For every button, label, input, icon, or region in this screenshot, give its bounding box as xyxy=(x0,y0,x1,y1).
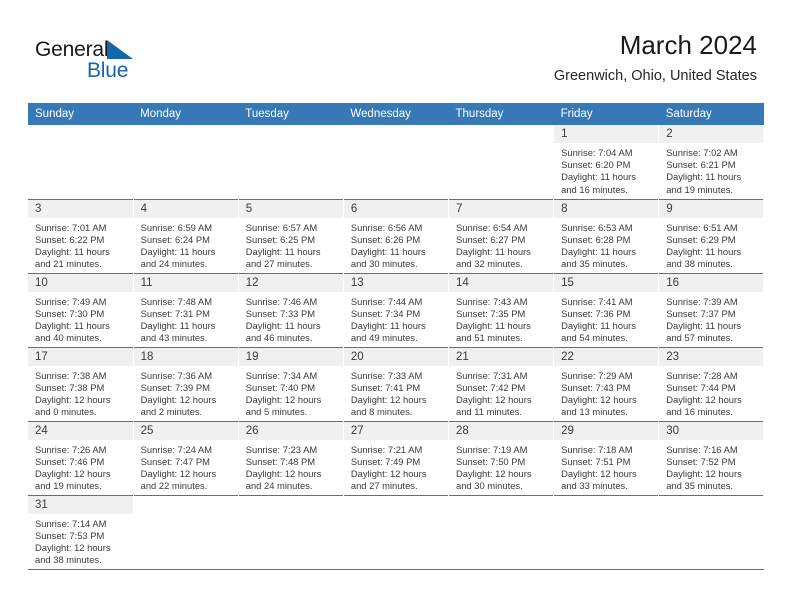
daylight-text-cont: and 16 minutes. xyxy=(666,406,759,418)
sunrise-text: Sunrise: 7:02 AM xyxy=(666,147,759,159)
daylight-text: Daylight: 12 hours xyxy=(141,394,234,406)
day-number xyxy=(28,125,133,143)
day-detail-lines xyxy=(659,514,763,518)
sunset-text: Sunset: 7:38 PM xyxy=(35,382,129,394)
daylight-text: Daylight: 11 hours xyxy=(456,246,549,258)
calendar-empty-cell xyxy=(659,495,764,569)
sunrise-text: Sunrise: 7:29 AM xyxy=(561,370,654,382)
daylight-text-cont: and 11 minutes. xyxy=(456,406,549,418)
daylight-text-cont: and 19 minutes. xyxy=(35,480,129,492)
sunrise-text: Sunrise: 7:34 AM xyxy=(246,370,339,382)
sunset-text: Sunset: 6:26 PM xyxy=(351,234,444,246)
calendar-empty-cell xyxy=(133,495,238,569)
sunset-text: Sunset: 7:30 PM xyxy=(35,308,129,320)
day-number xyxy=(344,125,448,143)
title-block: March 2024 Greenwich, Ohio, United State… xyxy=(554,30,757,86)
day-number xyxy=(344,496,448,514)
weekday-header-wednesday: Wednesday xyxy=(343,103,448,125)
day-detail-lines: Sunrise: 7:29 AMSunset: 7:43 PMDaylight:… xyxy=(554,366,658,419)
weekday-header-friday: Friday xyxy=(554,103,659,125)
day-detail-lines: Sunrise: 6:56 AMSunset: 6:26 PMDaylight:… xyxy=(344,218,448,271)
calendar-day-cell[interactable]: 31Sunrise: 7:14 AMSunset: 7:53 PMDayligh… xyxy=(28,495,133,569)
calendar-empty-cell xyxy=(343,125,448,199)
daylight-text-cont: and 57 minutes. xyxy=(666,332,759,344)
calendar-day-cell[interactable]: 3Sunrise: 7:01 AMSunset: 6:22 PMDaylight… xyxy=(28,199,133,273)
calendar-day-cell[interactable]: 24Sunrise: 7:26 AMSunset: 7:46 PMDayligh… xyxy=(28,421,133,495)
calendar-day-cell[interactable]: 25Sunrise: 7:24 AMSunset: 7:47 PMDayligh… xyxy=(133,421,238,495)
calendar-day-cell[interactable]: 23Sunrise: 7:28 AMSunset: 7:44 PMDayligh… xyxy=(659,347,764,421)
day-number xyxy=(239,496,343,514)
day-detail-lines: Sunrise: 7:41 AMSunset: 7:36 PMDaylight:… xyxy=(554,292,658,345)
weekday-header-thursday: Thursday xyxy=(449,103,554,125)
calendar-day-cell[interactable]: 28Sunrise: 7:19 AMSunset: 7:50 PMDayligh… xyxy=(449,421,554,495)
daylight-text: Daylight: 11 hours xyxy=(35,320,129,332)
day-number: 27 xyxy=(344,422,448,440)
daylight-text: Daylight: 11 hours xyxy=(351,320,444,332)
sunset-text: Sunset: 7:40 PM xyxy=(246,382,339,394)
day-number xyxy=(449,496,553,514)
calendar-week-row: 1Sunrise: 7:04 AMSunset: 6:20 PMDaylight… xyxy=(28,125,764,199)
day-detail-lines: Sunrise: 7:24 AMSunset: 7:47 PMDaylight:… xyxy=(134,440,238,493)
daylight-text: Daylight: 11 hours xyxy=(351,246,444,258)
day-number: 28 xyxy=(449,422,553,440)
daylight-text: Daylight: 11 hours xyxy=(456,320,549,332)
sunrise-text: Sunrise: 7:01 AM xyxy=(35,222,129,234)
daylight-text-cont: and 38 minutes. xyxy=(35,554,129,566)
sunrise-text: Sunrise: 7:24 AM xyxy=(141,444,234,456)
daylight-text-cont: and 40 minutes. xyxy=(35,332,129,344)
day-number: 4 xyxy=(134,200,238,218)
calendar-day-cell[interactable]: 15Sunrise: 7:41 AMSunset: 7:36 PMDayligh… xyxy=(554,273,659,347)
daylight-text: Daylight: 11 hours xyxy=(246,320,339,332)
page-subtitle: Greenwich, Ohio, United States xyxy=(554,66,757,86)
calendar-day-cell[interactable]: 12Sunrise: 7:46 AMSunset: 7:33 PMDayligh… xyxy=(238,273,343,347)
daylight-text-cont: and 13 minutes. xyxy=(561,406,654,418)
day-detail-lines: Sunrise: 7:14 AMSunset: 7:53 PMDaylight:… xyxy=(28,514,133,567)
day-detail-lines: Sunrise: 7:31 AMSunset: 7:42 PMDaylight:… xyxy=(449,366,553,419)
calendar-day-cell[interactable]: 13Sunrise: 7:44 AMSunset: 7:34 PMDayligh… xyxy=(343,273,448,347)
calendar-day-cell[interactable]: 26Sunrise: 7:23 AMSunset: 7:48 PMDayligh… xyxy=(238,421,343,495)
sunset-text: Sunset: 7:35 PM xyxy=(456,308,549,320)
general-blue-logo[interactable]: General Blue xyxy=(35,38,165,88)
sunrise-text: Sunrise: 7:28 AM xyxy=(666,370,759,382)
day-detail-lines: Sunrise: 7:16 AMSunset: 7:52 PMDaylight:… xyxy=(659,440,763,493)
daylight-text-cont: and 22 minutes. xyxy=(141,480,234,492)
daylight-text-cont: and 27 minutes. xyxy=(246,258,339,270)
daylight-text: Daylight: 11 hours xyxy=(561,171,654,183)
sunrise-text: Sunrise: 7:43 AM xyxy=(456,296,549,308)
day-detail-lines: Sunrise: 7:36 AMSunset: 7:39 PMDaylight:… xyxy=(134,366,238,419)
day-detail-lines: Sunrise: 7:04 AMSunset: 6:20 PMDaylight:… xyxy=(554,143,658,196)
calendar-empty-cell xyxy=(238,495,343,569)
sunrise-text: Sunrise: 7:19 AM xyxy=(456,444,549,456)
daylight-text: Daylight: 11 hours xyxy=(666,246,759,258)
day-number: 19 xyxy=(239,348,343,366)
day-detail-lines: Sunrise: 7:34 AMSunset: 7:40 PMDaylight:… xyxy=(239,366,343,419)
calendar-day-cell[interactable]: 1Sunrise: 7:04 AMSunset: 6:20 PMDaylight… xyxy=(554,125,659,199)
sunrise-text: Sunrise: 6:51 AM xyxy=(666,222,759,234)
calendar-empty-cell xyxy=(133,125,238,199)
daylight-text-cont: and 24 minutes. xyxy=(141,258,234,270)
day-detail-lines: Sunrise: 7:19 AMSunset: 7:50 PMDaylight:… xyxy=(449,440,553,493)
daylight-text: Daylight: 11 hours xyxy=(561,320,654,332)
calendar-day-cell[interactable]: 8Sunrise: 6:53 AMSunset: 6:28 PMDaylight… xyxy=(554,199,659,273)
sunset-text: Sunset: 7:47 PM xyxy=(141,456,234,468)
calendar-week-row: 24Sunrise: 7:26 AMSunset: 7:46 PMDayligh… xyxy=(28,421,764,495)
daylight-text: Daylight: 11 hours xyxy=(141,246,234,258)
day-number: 5 xyxy=(239,200,343,218)
calendar-day-cell[interactable]: 29Sunrise: 7:18 AMSunset: 7:51 PMDayligh… xyxy=(554,421,659,495)
day-detail-lines: Sunrise: 7:23 AMSunset: 7:48 PMDaylight:… xyxy=(239,440,343,493)
sunrise-text: Sunrise: 7:26 AM xyxy=(35,444,129,456)
daylight-text-cont: and 38 minutes. xyxy=(666,258,759,270)
daylight-text-cont: and 27 minutes. xyxy=(351,480,444,492)
daylight-text: Daylight: 12 hours xyxy=(666,468,759,480)
day-number xyxy=(134,496,238,514)
calendar-day-cell[interactable]: 17Sunrise: 7:38 AMSunset: 7:38 PMDayligh… xyxy=(28,347,133,421)
daylight-text-cont: and 33 minutes. xyxy=(561,480,654,492)
sunset-text: Sunset: 6:22 PM xyxy=(35,234,129,246)
sunrise-text: Sunrise: 7:23 AM xyxy=(246,444,339,456)
day-number: 29 xyxy=(554,422,658,440)
sunrise-text: Sunrise: 6:57 AM xyxy=(246,222,339,234)
day-detail-lines: Sunrise: 7:39 AMSunset: 7:37 PMDaylight:… xyxy=(659,292,763,345)
daylight-text: Daylight: 11 hours xyxy=(561,246,654,258)
sunrise-text: Sunrise: 7:46 AM xyxy=(246,296,339,308)
calendar-empty-cell xyxy=(343,495,448,569)
day-number: 7 xyxy=(449,200,553,218)
sunset-text: Sunset: 6:25 PM xyxy=(246,234,339,246)
day-number: 16 xyxy=(659,274,763,292)
calendar-day-cell[interactable]: 9Sunrise: 6:51 AMSunset: 6:29 PMDaylight… xyxy=(659,199,764,273)
daylight-text-cont: and 19 minutes. xyxy=(666,184,759,196)
calendar-empty-cell xyxy=(238,125,343,199)
day-detail-lines: Sunrise: 7:43 AMSunset: 7:35 PMDaylight:… xyxy=(449,292,553,345)
sunset-text: Sunset: 7:52 PM xyxy=(666,456,759,468)
day-detail-lines xyxy=(449,143,553,147)
daylight-text-cont: and 43 minutes. xyxy=(141,332,234,344)
sunrise-text: Sunrise: 7:04 AM xyxy=(561,147,654,159)
day-number: 18 xyxy=(134,348,238,366)
calendar-day-cell[interactable]: 6Sunrise: 6:56 AMSunset: 6:26 PMDaylight… xyxy=(343,199,448,273)
calendar-day-cell[interactable]: 10Sunrise: 7:49 AMSunset: 7:30 PMDayligh… xyxy=(28,273,133,347)
calendar-empty-cell xyxy=(28,125,133,199)
day-detail-lines: Sunrise: 7:26 AMSunset: 7:46 PMDaylight:… xyxy=(28,440,133,493)
calendar-header-row: Sunday Monday Tuesday Wednesday Thursday… xyxy=(28,103,764,125)
sunset-text: Sunset: 7:43 PM xyxy=(561,382,654,394)
day-detail-lines: Sunrise: 7:28 AMSunset: 7:44 PMDaylight:… xyxy=(659,366,763,419)
day-detail-lines: Sunrise: 7:01 AMSunset: 6:22 PMDaylight:… xyxy=(28,218,133,271)
daylight-text: Daylight: 12 hours xyxy=(456,468,549,480)
sunset-text: Sunset: 6:21 PM xyxy=(666,159,759,171)
weekday-header-monday: Monday xyxy=(133,103,238,125)
day-number: 12 xyxy=(239,274,343,292)
day-detail-lines xyxy=(239,514,343,518)
day-detail-lines xyxy=(239,143,343,147)
day-number: 25 xyxy=(134,422,238,440)
calendar-day-cell[interactable]: 21Sunrise: 7:31 AMSunset: 7:42 PMDayligh… xyxy=(449,347,554,421)
daylight-text: Daylight: 12 hours xyxy=(246,468,339,480)
day-detail-lines xyxy=(134,143,238,147)
day-number xyxy=(134,125,238,143)
day-number: 11 xyxy=(134,274,238,292)
calendar-day-cell[interactable]: 2Sunrise: 7:02 AMSunset: 6:21 PMDaylight… xyxy=(659,125,764,199)
day-detail-lines: Sunrise: 7:21 AMSunset: 7:49 PMDaylight:… xyxy=(344,440,448,493)
sunset-text: Sunset: 7:50 PM xyxy=(456,456,549,468)
weekday-header-tuesday: Tuesday xyxy=(238,103,343,125)
daylight-text-cont: and 16 minutes. xyxy=(561,184,654,196)
daylight-text: Daylight: 12 hours xyxy=(666,394,759,406)
daylight-text: Daylight: 12 hours xyxy=(35,468,129,480)
daylight-text-cont: and 46 minutes. xyxy=(246,332,339,344)
calendar-grid: Sunday Monday Tuesday Wednesday Thursday… xyxy=(28,103,764,570)
calendar-day-cell[interactable]: 19Sunrise: 7:34 AMSunset: 7:40 PMDayligh… xyxy=(238,347,343,421)
day-detail-lines: Sunrise: 7:38 AMSunset: 7:38 PMDaylight:… xyxy=(28,366,133,419)
sunset-text: Sunset: 7:46 PM xyxy=(35,456,129,468)
day-number: 13 xyxy=(344,274,448,292)
daylight-text-cont: and 32 minutes. xyxy=(456,258,549,270)
sunset-text: Sunset: 7:36 PM xyxy=(561,308,654,320)
calendar-week-row: 3Sunrise: 7:01 AMSunset: 6:22 PMDaylight… xyxy=(28,199,764,273)
day-detail-lines xyxy=(134,514,238,518)
weekday-header-saturday: Saturday xyxy=(659,103,764,125)
logo-text-blue: Blue xyxy=(87,59,128,83)
daylight-text: Daylight: 11 hours xyxy=(246,246,339,258)
day-number: 8 xyxy=(554,200,658,218)
day-number: 3 xyxy=(28,200,133,218)
day-number: 30 xyxy=(659,422,763,440)
daylight-text: Daylight: 12 hours xyxy=(141,468,234,480)
day-number xyxy=(659,496,763,514)
day-detail-lines: Sunrise: 7:46 AMSunset: 7:33 PMDaylight:… xyxy=(239,292,343,345)
daylight-text: Daylight: 12 hours xyxy=(351,468,444,480)
calendar-day-cell[interactable]: 7Sunrise: 6:54 AMSunset: 6:27 PMDaylight… xyxy=(449,199,554,273)
sunset-text: Sunset: 7:37 PM xyxy=(666,308,759,320)
daylight-text-cont: and 35 minutes. xyxy=(561,258,654,270)
calendar-week-row: 17Sunrise: 7:38 AMSunset: 7:38 PMDayligh… xyxy=(28,347,764,421)
calendar-day-cell[interactable]: 22Sunrise: 7:29 AMSunset: 7:43 PMDayligh… xyxy=(554,347,659,421)
calendar-day-cell[interactable]: 30Sunrise: 7:16 AMSunset: 7:52 PMDayligh… xyxy=(659,421,764,495)
day-detail-lines: Sunrise: 7:18 AMSunset: 7:51 PMDaylight:… xyxy=(554,440,658,493)
sunset-text: Sunset: 7:53 PM xyxy=(35,530,129,542)
sunrise-text: Sunrise: 7:39 AM xyxy=(666,296,759,308)
day-number: 23 xyxy=(659,348,763,366)
daylight-text-cont: and 8 minutes. xyxy=(351,406,444,418)
daylight-text: Daylight: 12 hours xyxy=(561,394,654,406)
day-number: 14 xyxy=(449,274,553,292)
calendar-day-cell[interactable]: 18Sunrise: 7:36 AMSunset: 7:39 PMDayligh… xyxy=(133,347,238,421)
sunrise-text: Sunrise: 7:16 AM xyxy=(666,444,759,456)
daylight-text-cont: and 30 minutes. xyxy=(456,480,549,492)
sunset-text: Sunset: 7:42 PM xyxy=(456,382,549,394)
sunset-text: Sunset: 7:31 PM xyxy=(141,308,234,320)
daylight-text-cont: and 24 minutes. xyxy=(246,480,339,492)
calendar-week-row: 10Sunrise: 7:49 AMSunset: 7:30 PMDayligh… xyxy=(28,273,764,347)
sunset-text: Sunset: 7:51 PM xyxy=(561,456,654,468)
daylight-text-cont: and 0 minutes. xyxy=(35,406,129,418)
day-number: 26 xyxy=(239,422,343,440)
day-number: 2 xyxy=(659,125,763,143)
sunrise-text: Sunrise: 7:18 AM xyxy=(561,444,654,456)
day-number: 6 xyxy=(344,200,448,218)
day-number xyxy=(449,125,553,143)
calendar-day-cell[interactable]: 5Sunrise: 6:57 AMSunset: 6:25 PMDaylight… xyxy=(238,199,343,273)
day-detail-lines xyxy=(344,143,448,147)
day-number: 1 xyxy=(554,125,658,143)
day-detail-lines: Sunrise: 6:54 AMSunset: 6:27 PMDaylight:… xyxy=(449,218,553,271)
sunset-text: Sunset: 7:33 PM xyxy=(246,308,339,320)
sunrise-text: Sunrise: 7:48 AM xyxy=(141,296,234,308)
sunrise-text: Sunrise: 7:31 AM xyxy=(456,370,549,382)
weekday-header-sunday: Sunday xyxy=(28,103,133,125)
day-number: 17 xyxy=(28,348,133,366)
sunset-text: Sunset: 7:34 PM xyxy=(351,308,444,320)
calendar-page: General Blue March 2024 Greenwich, Ohio,… xyxy=(0,0,792,612)
page-title: March 2024 xyxy=(554,30,757,60)
day-number: 10 xyxy=(28,274,133,292)
daylight-text: Daylight: 11 hours xyxy=(35,246,129,258)
sunrise-text: Sunrise: 7:14 AM xyxy=(35,518,129,530)
calendar-empty-cell xyxy=(449,495,554,569)
calendar-day-cell[interactable]: 20Sunrise: 7:33 AMSunset: 7:41 PMDayligh… xyxy=(343,347,448,421)
daylight-text: Daylight: 12 hours xyxy=(561,468,654,480)
daylight-text-cont: and 54 minutes. xyxy=(561,332,654,344)
day-detail-lines: Sunrise: 7:44 AMSunset: 7:34 PMDaylight:… xyxy=(344,292,448,345)
daylight-text: Daylight: 12 hours xyxy=(35,394,129,406)
day-detail-lines: Sunrise: 7:02 AMSunset: 6:21 PMDaylight:… xyxy=(659,143,763,196)
day-detail-lines xyxy=(449,514,553,518)
daylight-text: Daylight: 11 hours xyxy=(666,171,759,183)
day-number: 9 xyxy=(659,200,763,218)
day-detail-lines: Sunrise: 6:53 AMSunset: 6:28 PMDaylight:… xyxy=(554,218,658,271)
sunset-text: Sunset: 7:49 PM xyxy=(351,456,444,468)
day-detail-lines: Sunrise: 6:51 AMSunset: 6:29 PMDaylight:… xyxy=(659,218,763,271)
sunset-text: Sunset: 7:48 PM xyxy=(246,456,339,468)
calendar-day-cell[interactable]: 14Sunrise: 7:43 AMSunset: 7:35 PMDayligh… xyxy=(449,273,554,347)
sunrise-text: Sunrise: 7:21 AM xyxy=(351,444,444,456)
daylight-text: Daylight: 11 hours xyxy=(666,320,759,332)
sunset-text: Sunset: 7:44 PM xyxy=(666,382,759,394)
sunset-text: Sunset: 6:28 PM xyxy=(561,234,654,246)
day-number: 21 xyxy=(449,348,553,366)
daylight-text-cont: and 21 minutes. xyxy=(35,258,129,270)
daylight-text: Daylight: 12 hours xyxy=(456,394,549,406)
sunrise-text: Sunrise: 6:54 AM xyxy=(456,222,549,234)
day-number xyxy=(554,496,658,514)
daylight-text-cont: and 2 minutes. xyxy=(141,406,234,418)
day-detail-lines xyxy=(554,514,658,518)
daylight-text-cont: and 30 minutes. xyxy=(351,258,444,270)
sunrise-text: Sunrise: 7:41 AM xyxy=(561,296,654,308)
day-detail-lines: Sunrise: 7:48 AMSunset: 7:31 PMDaylight:… xyxy=(134,292,238,345)
calendar-day-cell[interactable]: 11Sunrise: 7:48 AMSunset: 7:31 PMDayligh… xyxy=(133,273,238,347)
day-number xyxy=(239,125,343,143)
day-detail-lines: Sunrise: 6:59 AMSunset: 6:24 PMDaylight:… xyxy=(134,218,238,271)
daylight-text: Daylight: 12 hours xyxy=(35,542,129,554)
daylight-text-cont: and 49 minutes. xyxy=(351,332,444,344)
day-detail-lines xyxy=(344,514,448,518)
calendar-empty-cell xyxy=(449,125,554,199)
calendar-empty-cell xyxy=(554,495,659,569)
day-detail-lines: Sunrise: 7:33 AMSunset: 7:41 PMDaylight:… xyxy=(344,366,448,419)
day-number: 20 xyxy=(344,348,448,366)
daylight-text: Daylight: 11 hours xyxy=(141,320,234,332)
day-detail-lines: Sunrise: 7:49 AMSunset: 7:30 PMDaylight:… xyxy=(28,292,133,345)
calendar-body: 1Sunrise: 7:04 AMSunset: 6:20 PMDaylight… xyxy=(28,125,764,569)
sunrise-text: Sunrise: 7:33 AM xyxy=(351,370,444,382)
day-number: 31 xyxy=(28,496,133,514)
calendar-day-cell[interactable]: 27Sunrise: 7:21 AMSunset: 7:49 PMDayligh… xyxy=(343,421,448,495)
calendar-week-row: 31Sunrise: 7:14 AMSunset: 7:53 PMDayligh… xyxy=(28,495,764,569)
sunrise-text: Sunrise: 6:53 AM xyxy=(561,222,654,234)
day-detail-lines: Sunrise: 6:57 AMSunset: 6:25 PMDaylight:… xyxy=(239,218,343,271)
daylight-text: Daylight: 12 hours xyxy=(351,394,444,406)
day-number: 22 xyxy=(554,348,658,366)
sunset-text: Sunset: 6:24 PM xyxy=(141,234,234,246)
day-detail-lines xyxy=(28,143,133,147)
calendar-day-cell[interactable]: 4Sunrise: 6:59 AMSunset: 6:24 PMDaylight… xyxy=(133,199,238,273)
sunset-text: Sunset: 7:41 PM xyxy=(351,382,444,394)
calendar-day-cell[interactable]: 16Sunrise: 7:39 AMSunset: 7:37 PMDayligh… xyxy=(659,273,764,347)
sunrise-text: Sunrise: 6:59 AM xyxy=(141,222,234,234)
day-number: 24 xyxy=(28,422,133,440)
daylight-text: Daylight: 12 hours xyxy=(246,394,339,406)
daylight-text-cont: and 51 minutes. xyxy=(456,332,549,344)
sunrise-text: Sunrise: 6:56 AM xyxy=(351,222,444,234)
sunset-text: Sunset: 7:39 PM xyxy=(141,382,234,394)
page-header: General Blue March 2024 Greenwich, Ohio,… xyxy=(0,0,792,103)
daylight-text-cont: and 35 minutes. xyxy=(666,480,759,492)
sunset-text: Sunset: 6:20 PM xyxy=(561,159,654,171)
sunrise-text: Sunrise: 7:49 AM xyxy=(35,296,129,308)
blue-flag-triangle-icon xyxy=(107,40,135,60)
daylight-text-cont: and 5 minutes. xyxy=(246,406,339,418)
day-number: 15 xyxy=(554,274,658,292)
sunset-text: Sunset: 6:29 PM xyxy=(666,234,759,246)
sunrise-text: Sunrise: 7:44 AM xyxy=(351,296,444,308)
sunrise-text: Sunrise: 7:38 AM xyxy=(35,370,129,382)
sunrise-text: Sunrise: 7:36 AM xyxy=(141,370,234,382)
sunset-text: Sunset: 6:27 PM xyxy=(456,234,549,246)
